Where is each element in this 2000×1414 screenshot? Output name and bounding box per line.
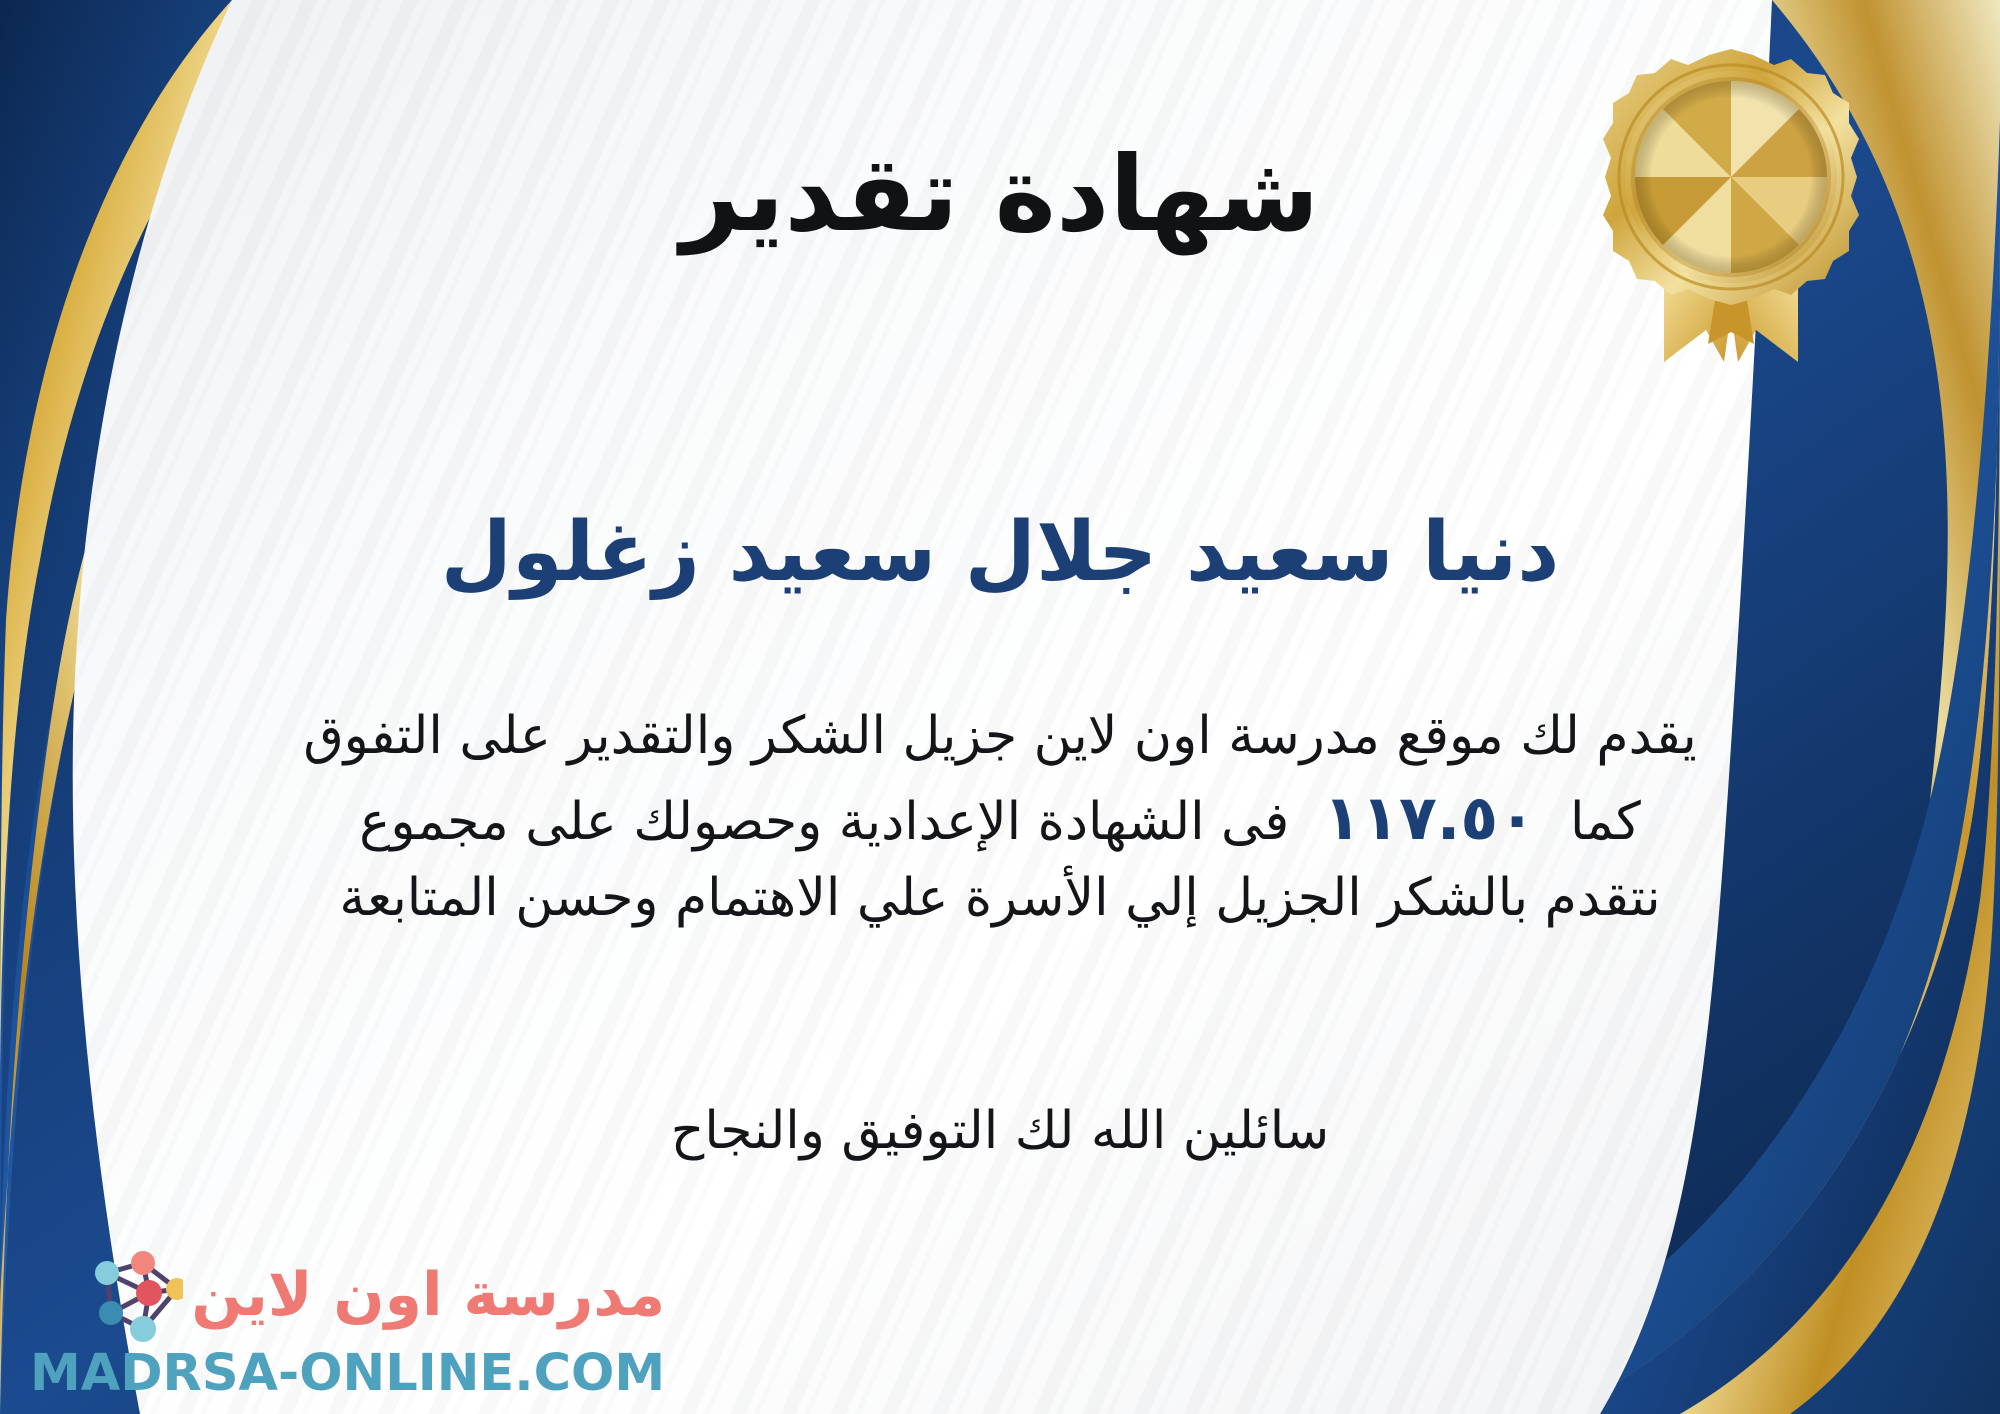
body-line-2: كما١١٧.٥٠فى الشهادة الإعدادية وحصولك على… [115,774,1885,862]
body-line-1: يقدم لك موقع مدرسة اون لاين جزيل الشكر و… [115,700,1885,774]
body-line-3: نتقدم بالشكر الجزيل إلي الأسرة علي الاهت… [115,862,1885,936]
certificate-content: شهادة تقدير دنيا سعيد جلال سعيد زغلول يق… [0,0,2000,1414]
brand-logo[interactable]: مدرسة اون لاين [30,1243,665,1401]
body-line-2-prefix: فى الشهادة الإعدادية وحصولك على مجموع [359,792,1289,852]
brand-website[interactable]: MADRSA-ONLINE.COM [30,1347,665,1401]
network-nodes-icon [87,1243,183,1347]
certificate-title: شهادة تقدير [0,140,2000,249]
student-name: دنيا سعيد جلال سعيد زغلول [0,508,2000,598]
certificate-canvas: شهادة تقدير دنيا سعيد جلال سعيد زغلول يق… [0,0,2000,1414]
brand-logo-row: مدرسة اون لاين [87,1243,665,1347]
body-line-2-suffix: كما [1570,792,1641,852]
score-value: ١١٧.٥٠ [1289,781,1570,854]
certificate-body: يقدم لك موقع مدرسة اون لاين جزيل الشكر و… [115,700,1885,936]
closing-line: سائلين الله لك التوفيق والنجاح [0,1095,2000,1168]
brand-arabic-name: مدرسة اون لاين [191,1265,665,1325]
